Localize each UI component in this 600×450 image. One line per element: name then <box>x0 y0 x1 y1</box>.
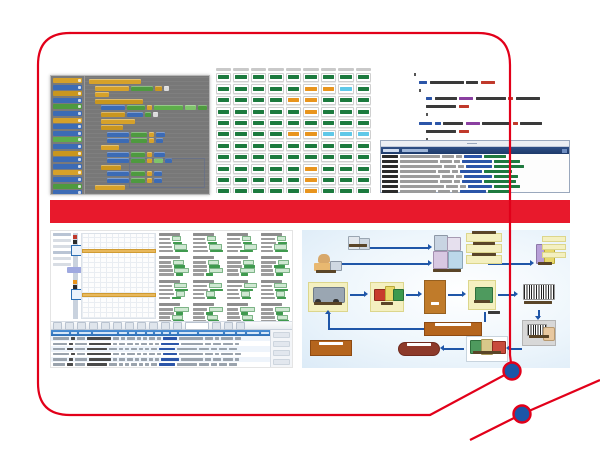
table-cell[interactable] <box>213 343 221 345</box>
status-cell-green[interactable] <box>268 96 283 105</box>
table-cell[interactable] <box>177 348 197 350</box>
status-cell-orange[interactable] <box>286 130 301 139</box>
table-cell[interactable] <box>221 353 233 355</box>
table-cell[interactable] <box>53 353 69 355</box>
table-column-header[interactable] <box>53 332 69 334</box>
table-cell[interactable] <box>221 337 233 339</box>
code-text-area[interactable] <box>380 68 570 138</box>
status-cell-orange[interactable] <box>303 187 318 193</box>
palette-block[interactable] <box>53 137 82 142</box>
table-cell[interactable] <box>69 358 73 360</box>
block-statement[interactable] <box>107 132 207 137</box>
block-chip[interactable] <box>107 178 129 183</box>
table-cell[interactable] <box>235 337 241 339</box>
log-row[interactable] <box>381 175 569 178</box>
table-cell[interactable] <box>127 353 135 355</box>
status-cell-green[interactable] <box>321 141 336 150</box>
table-cell[interactable] <box>75 363 85 365</box>
palette-block[interactable] <box>53 184 82 189</box>
status-cell-green[interactable] <box>233 73 248 82</box>
status-cell-green[interactable] <box>216 119 231 128</box>
block-chip[interactable] <box>154 105 183 110</box>
table-row[interactable] <box>51 362 292 367</box>
status-cell-green[interactable] <box>268 84 283 93</box>
table-cell[interactable] <box>139 348 143 350</box>
toolbar-button[interactable] <box>212 322 221 330</box>
output-log-window[interactable] <box>380 140 570 193</box>
status-cell-green[interactable] <box>268 164 283 173</box>
status-cell-green[interactable] <box>356 96 371 105</box>
table-cell[interactable] <box>127 337 135 339</box>
log-row[interactable] <box>381 190 569 193</box>
flow-node-unload[interactable] <box>370 282 404 312</box>
palette-block[interactable] <box>53 164 82 169</box>
status-cell-green[interactable] <box>338 164 353 173</box>
table-cell[interactable] <box>205 353 213 355</box>
flow-node-supplier[interactable] <box>310 252 342 276</box>
table-cell[interactable] <box>205 337 213 339</box>
table-cell[interactable] <box>77 353 85 355</box>
block-statement[interactable] <box>101 125 207 130</box>
status-cell-green[interactable] <box>321 96 336 105</box>
table-column-header[interactable] <box>155 332 161 334</box>
block-chip[interactable] <box>107 132 129 137</box>
status-cell-green[interactable] <box>356 187 371 193</box>
panel-logistics-flow[interactable] <box>302 230 570 368</box>
table-cell[interactable] <box>135 343 139 345</box>
status-cell-green[interactable] <box>338 119 353 128</box>
status-cell-green[interactable] <box>216 107 231 116</box>
table-cell[interactable] <box>87 353 111 355</box>
toolbar-button[interactable] <box>236 322 245 330</box>
table-cell[interactable] <box>113 337 119 339</box>
toolbar-button[interactable] <box>65 322 74 330</box>
status-cell-green[interactable] <box>268 73 283 82</box>
table-cell[interactable] <box>143 337 147 339</box>
table-cell[interactable] <box>131 348 137 350</box>
status-cell-green[interactable] <box>216 73 231 82</box>
table-cell[interactable] <box>155 343 159 345</box>
status-cell-green[interactable] <box>338 187 353 193</box>
gantt-chart-grid[interactable] <box>81 233 156 319</box>
table-cell[interactable] <box>155 358 159 360</box>
table-cell[interactable] <box>137 337 141 339</box>
flow-node-scan-in[interactable] <box>522 320 556 346</box>
status-cell-green[interactable] <box>356 73 371 82</box>
table-cell[interactable] <box>145 363 149 365</box>
side-panel-button[interactable] <box>273 341 290 347</box>
status-cell-cyan[interactable] <box>356 130 371 139</box>
table-cell[interactable] <box>179 337 203 339</box>
status-cell-green[interactable] <box>216 153 231 162</box>
table-cell[interactable] <box>199 363 209 365</box>
side-panel-button[interactable] <box>273 332 290 338</box>
table-cell[interactable] <box>211 363 217 365</box>
table-cell[interactable] <box>199 348 209 350</box>
status-cell-green[interactable] <box>286 119 301 128</box>
table-cell[interactable] <box>119 348 123 350</box>
table-cell[interactable] <box>131 363 137 365</box>
status-cell-green[interactable] <box>268 130 283 139</box>
table-cell[interactable] <box>141 358 147 360</box>
table-cell[interactable] <box>159 348 175 350</box>
status-cell-green[interactable] <box>251 84 266 93</box>
log-row[interactable] <box>381 185 569 188</box>
palette-block[interactable] <box>53 111 82 116</box>
table-column-header[interactable] <box>199 332 223 334</box>
table-cell[interactable] <box>235 353 241 355</box>
status-cell-green[interactable] <box>356 107 371 116</box>
status-cell-green[interactable] <box>286 141 301 150</box>
table-cell[interactable] <box>119 358 125 360</box>
log-row[interactable] <box>381 155 569 158</box>
status-cell-green[interactable] <box>251 164 266 173</box>
block-chip[interactable] <box>127 112 143 117</box>
panel-code-editor[interactable] <box>380 68 570 193</box>
status-cell-green[interactable] <box>268 107 283 116</box>
log-title-bar[interactable] <box>381 147 569 154</box>
status-cell-green[interactable] <box>251 73 266 82</box>
table-cell[interactable] <box>125 363 129 365</box>
status-cell-cyan[interactable] <box>338 84 353 93</box>
table-cell[interactable] <box>71 337 75 339</box>
block-chip[interactable] <box>95 99 143 104</box>
status-cell-green[interactable] <box>286 176 301 185</box>
table-cell[interactable] <box>157 353 161 355</box>
status-cell-green[interactable] <box>338 176 353 185</box>
block-chip[interactable] <box>131 132 147 137</box>
table-cell[interactable] <box>151 363 157 365</box>
table-cell[interactable] <box>87 348 107 350</box>
status-cell-green[interactable] <box>338 107 353 116</box>
status-cell-green[interactable] <box>233 119 248 128</box>
status-cell-green[interactable] <box>251 141 266 150</box>
table-cell[interactable] <box>109 363 117 365</box>
status-cell-orange[interactable] <box>303 164 318 173</box>
log-row[interactable] <box>381 180 569 183</box>
panel-planning-sheet[interactable] <box>50 230 293 368</box>
table-cell[interactable] <box>161 343 179 345</box>
flow-note-archive-1[interactable] <box>542 236 566 242</box>
table-column-header[interactable] <box>71 332 77 334</box>
status-cell-green[interactable] <box>233 96 248 105</box>
status-cell-green[interactable] <box>216 164 231 173</box>
table-column-header[interactable] <box>93 332 117 334</box>
toolbar-button[interactable] <box>101 322 110 330</box>
toolbar-button[interactable] <box>89 322 98 330</box>
block-chip[interactable] <box>185 105 196 110</box>
status-cell-green[interactable] <box>356 164 371 173</box>
block-chip[interactable] <box>101 105 125 110</box>
palette-block[interactable] <box>53 144 82 149</box>
status-cell-green[interactable] <box>233 176 248 185</box>
palette-block[interactable] <box>53 104 82 109</box>
table-cell[interactable] <box>161 358 179 360</box>
toolbar-button[interactable] <box>77 322 86 330</box>
table-cell[interactable] <box>181 358 203 360</box>
palette-block[interactable] <box>53 91 82 96</box>
palette-block[interactable] <box>53 98 82 103</box>
table-cell[interactable] <box>113 343 117 345</box>
status-cell-green[interactable] <box>216 96 231 105</box>
table-cell[interactable] <box>89 358 111 360</box>
toolbar-button[interactable] <box>53 322 62 330</box>
side-panel-button[interactable] <box>273 350 290 356</box>
status-cell-green[interactable] <box>303 153 318 162</box>
status-cell-green[interactable] <box>233 187 248 193</box>
block-chip[interactable] <box>155 86 162 91</box>
table-cell[interactable] <box>67 348 73 350</box>
palette-block[interactable] <box>53 157 82 162</box>
palette-block[interactable] <box>53 177 82 182</box>
table-cell[interactable] <box>75 358 87 360</box>
status-cell-green[interactable] <box>233 84 248 93</box>
table-cell[interactable] <box>205 343 211 345</box>
block-chip[interactable] <box>101 165 121 170</box>
block-chip[interactable] <box>147 105 152 110</box>
palette-block[interactable] <box>53 151 82 156</box>
block-chip[interactable] <box>107 152 129 157</box>
status-cell-green[interactable] <box>321 187 336 193</box>
table-cell[interactable] <box>179 353 203 355</box>
table-cell[interactable] <box>219 348 227 350</box>
block-chip[interactable] <box>95 86 129 91</box>
table-cell[interactable] <box>151 348 157 350</box>
status-cell-green[interactable] <box>268 187 283 193</box>
toolbar-button[interactable] <box>173 322 182 330</box>
sheet-side-panel[interactable] <box>270 330 292 367</box>
status-cell-green[interactable] <box>233 107 248 116</box>
table-cell[interactable] <box>89 343 111 345</box>
status-cell-green[interactable] <box>286 164 301 173</box>
status-cell-green[interactable] <box>321 176 336 185</box>
status-cell-green[interactable] <box>356 176 371 185</box>
table-column-header[interactable] <box>137 332 145 334</box>
status-cell-green[interactable] <box>303 73 318 82</box>
close-icon[interactable] <box>562 149 567 153</box>
table-cell[interactable] <box>121 337 125 339</box>
status-cell-green[interactable] <box>356 141 371 150</box>
log-row[interactable] <box>381 160 569 163</box>
table-cell[interactable] <box>69 343 73 345</box>
table-cell[interactable] <box>87 363 107 365</box>
block-chip[interactable] <box>107 171 129 176</box>
block-statement[interactable] <box>101 119 207 124</box>
status-cell-green[interactable] <box>251 119 266 128</box>
status-cell-green[interactable] <box>321 164 336 173</box>
flow-node-reject-return[interactable] <box>310 340 352 356</box>
palette-block[interactable] <box>53 78 82 83</box>
block-chip[interactable] <box>147 152 152 157</box>
table-cell[interactable] <box>235 343 239 345</box>
toolbar-button[interactable] <box>149 322 158 330</box>
table-cell[interactable] <box>215 353 219 355</box>
blocks-canvas[interactable] <box>85 76 209 194</box>
status-cell-green[interactable] <box>216 130 231 139</box>
table-cell[interactable] <box>119 363 123 365</box>
table-cell[interactable] <box>87 337 111 339</box>
table-cell[interactable] <box>137 353 141 355</box>
status-cell-green[interactable] <box>286 84 301 93</box>
flow-node-label-print[interactable] <box>520 280 556 310</box>
table-cell[interactable] <box>223 358 233 360</box>
status-cell-green[interactable] <box>321 119 336 128</box>
table-cell[interactable] <box>53 358 67 360</box>
table-body[interactable] <box>51 336 292 367</box>
sheet-toolbar[interactable] <box>51 321 292 330</box>
table-cell[interactable] <box>223 343 233 345</box>
palette-block[interactable] <box>53 131 82 136</box>
flow-node-putaway[interactable] <box>466 336 508 362</box>
table-cell[interactable] <box>75 343 87 345</box>
status-cell-orange[interactable] <box>303 96 318 105</box>
table-cell[interactable] <box>163 353 177 355</box>
status-cell-green[interactable] <box>303 141 318 150</box>
table-cell[interactable] <box>157 337 161 339</box>
block-chip[interactable] <box>164 86 169 91</box>
block-chip[interactable] <box>131 152 145 157</box>
status-cell-green[interactable] <box>251 153 266 162</box>
flow-note-archive-3[interactable] <box>542 252 566 258</box>
toolbar-button[interactable] <box>113 322 122 330</box>
block-statement[interactable] <box>107 152 207 157</box>
status-cell-green[interactable] <box>303 119 318 128</box>
status-cell-orange[interactable] <box>286 96 301 105</box>
block-statement[interactable] <box>95 92 207 97</box>
table-cell[interactable] <box>211 348 217 350</box>
block-chip[interactable] <box>107 158 129 163</box>
table-cell[interactable] <box>229 363 237 365</box>
gantt-section[interactable] <box>51 231 292 321</box>
status-cell-green[interactable] <box>216 187 231 193</box>
table-column-header[interactable] <box>171 332 177 334</box>
table-cell[interactable] <box>127 343 133 345</box>
table-cell[interactable] <box>53 337 69 339</box>
block-chip[interactable] <box>153 112 158 117</box>
table-column-header[interactable] <box>179 332 197 334</box>
toolbar-button[interactable] <box>161 322 170 330</box>
block-chip[interactable] <box>131 138 147 143</box>
flow-note-arrival-notice[interactable] <box>466 255 502 264</box>
table-column-header[interactable] <box>119 332 127 334</box>
block-statement[interactable] <box>101 145 207 150</box>
table-column-header[interactable] <box>79 332 91 334</box>
toolbar-search-input[interactable] <box>185 322 209 330</box>
status-cell-green[interactable] <box>233 164 248 173</box>
block-statement[interactable] <box>95 99 207 104</box>
block-chip[interactable] <box>145 112 151 117</box>
status-cell-green[interactable] <box>338 153 353 162</box>
status-cell-green[interactable] <box>251 107 266 116</box>
block-chip[interactable] <box>156 132 165 137</box>
status-cell-green[interactable] <box>286 107 301 116</box>
status-cell-green[interactable] <box>233 153 248 162</box>
status-cell-green[interactable] <box>338 73 353 82</box>
status-cell-orange[interactable] <box>303 130 318 139</box>
gantt-bar[interactable] <box>82 293 156 297</box>
block-statement[interactable] <box>107 138 207 143</box>
status-cell-orange[interactable] <box>321 84 336 93</box>
status-cell-green[interactable] <box>356 153 371 162</box>
table-cell[interactable] <box>113 353 119 355</box>
table-column-header[interactable] <box>225 332 235 334</box>
block-chip[interactable] <box>149 138 154 143</box>
table-cell[interactable] <box>67 363 73 365</box>
log-tab-strip[interactable] <box>381 141 569 147</box>
palette-block[interactable] <box>53 124 82 129</box>
table-cell[interactable] <box>149 358 153 360</box>
table-cell[interactable] <box>213 358 221 360</box>
flow-note-archive-2[interactable] <box>542 244 566 250</box>
table-cell[interactable] <box>145 348 149 350</box>
table-cell[interactable] <box>135 358 139 360</box>
table-cell[interactable] <box>215 337 219 339</box>
log-row-list[interactable] <box>381 154 569 193</box>
side-panel-button[interactable] <box>273 359 290 365</box>
flow-node-quality-check[interactable] <box>468 280 496 310</box>
block-chip[interactable] <box>156 138 163 143</box>
status-cell-green[interactable] <box>233 141 248 150</box>
status-cell-orange[interactable] <box>303 107 318 116</box>
table-cell[interactable] <box>119 343 125 345</box>
palette-block[interactable] <box>53 85 82 90</box>
flow-node-inspect-area[interactable] <box>424 280 446 314</box>
table-cell[interactable] <box>181 343 203 345</box>
table-cell[interactable] <box>159 363 175 365</box>
status-cell-green[interactable] <box>216 84 231 93</box>
table-cell[interactable] <box>141 343 147 345</box>
table-cell[interactable] <box>235 358 239 360</box>
block-statement[interactable] <box>101 105 207 110</box>
log-row[interactable] <box>381 165 569 168</box>
status-cell-green[interactable] <box>338 141 353 150</box>
status-cell-green[interactable] <box>356 119 371 128</box>
table-cell[interactable] <box>53 343 67 345</box>
table-cell[interactable] <box>53 348 65 350</box>
flow-node-delivery[interactable] <box>308 282 348 312</box>
flow-node-order-system[interactable] <box>342 232 374 252</box>
table-cell[interactable] <box>143 353 147 355</box>
block-chip[interactable] <box>95 92 109 97</box>
table-cell[interactable] <box>109 348 117 350</box>
status-cell-green[interactable] <box>216 176 231 185</box>
status-cell-green[interactable] <box>251 187 266 193</box>
gantt-bar[interactable] <box>82 249 156 253</box>
status-cell-green[interactable] <box>321 107 336 116</box>
table-cell[interactable] <box>149 337 155 339</box>
table-column-header[interactable] <box>129 332 135 334</box>
table-cell[interactable] <box>77 337 85 339</box>
status-cell-green[interactable] <box>321 73 336 82</box>
flow-node-warehouse-system[interactable] <box>430 234 464 276</box>
log-row[interactable] <box>381 170 569 173</box>
palette-block[interactable] <box>53 170 82 175</box>
flow-node-inbound-done[interactable] <box>398 342 440 356</box>
table-column-header[interactable] <box>247 332 259 334</box>
table-cell[interactable] <box>177 363 197 365</box>
status-cell-green[interactable] <box>233 130 248 139</box>
status-cell-green[interactable] <box>286 187 301 193</box>
block-chip[interactable] <box>101 125 123 130</box>
table-cell[interactable] <box>125 348 129 350</box>
status-cell-green[interactable] <box>216 141 231 150</box>
status-cell-green[interactable] <box>268 119 283 128</box>
table-cell[interactable] <box>205 358 211 360</box>
status-cell-green[interactable] <box>251 96 266 105</box>
status-cell-green[interactable] <box>356 84 371 93</box>
palette-block[interactable] <box>53 118 82 123</box>
toolbar-button[interactable] <box>137 322 146 330</box>
